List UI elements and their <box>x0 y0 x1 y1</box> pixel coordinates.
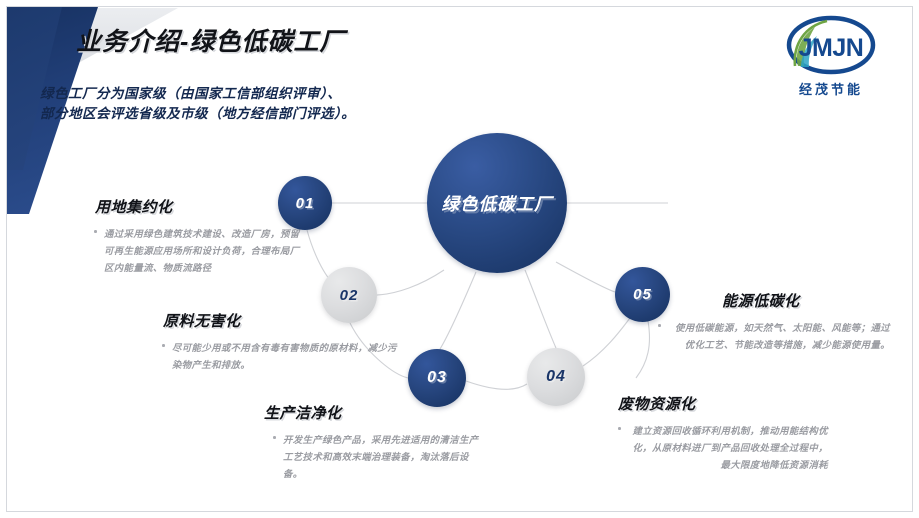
node-step-03[interactable]: 03 <box>408 349 466 407</box>
text-block-05-body-text: 使用低碳能源，如天然气、太阳能、风能等；通过优化工艺、节能改造等措施，减少能源使… <box>668 319 890 353</box>
text-block-04: 废物资源化 建立资源回收循环利用机制，推动用能结构优化，从原材料进厂到产品回收处… <box>600 393 860 473</box>
node-center-label: 绿色低碳工厂 <box>442 191 553 216</box>
node-step-03-number: 03 <box>427 369 447 387</box>
text-block-03-heading: 生产洁净化 <box>264 402 511 423</box>
text-block-02: 原料无害化 尽可能少用或不用含有毒有害物质的原材料，减少污染物产生和排放。 <box>160 310 410 373</box>
text-block-03-body: 开发生产绿色产品，采用先进适用的清洁生产工艺技术和高效末端治理装备，淘汰落后设备… <box>283 431 488 482</box>
text-block-04-body-text: 建立资源回收循环利用机制，推动用能结构优化，从原材料进厂到产品回收处理全过程中，… <box>628 422 828 473</box>
node-step-04-number: 04 <box>546 368 566 386</box>
text-block-05-body: 使用低碳能源，如天然气、太阳能、风能等；通过优化工艺、节能改造等措施，减少能源使… <box>668 319 890 353</box>
bullet-dot-icon <box>162 344 165 347</box>
bullet-dot-icon <box>658 324 661 327</box>
text-block-03-body-text: 开发生产绿色产品，采用先进适用的清洁生产工艺技术和高效末端治理装备，淘汰落后设备… <box>283 431 488 482</box>
node-step-04[interactable]: 04 <box>527 348 585 406</box>
text-block-02-body: 尽可能少用或不用含有毒有害物质的原材料，减少污染物产生和排放。 <box>172 339 397 373</box>
bullet-dot-icon <box>273 436 276 439</box>
text-block-04-heading: 废物资源化 <box>618 393 860 414</box>
text-block-04-body: 建立资源回收循环利用机制，推动用能结构优化，从原材料进厂到产品回收处理全过程中，… <box>628 422 828 473</box>
text-block-01-heading: 用地集约化 <box>95 196 317 217</box>
bullet-dot-icon <box>94 230 97 233</box>
text-block-01: 用地集约化 通过采用绿色建筑技术建设、改造厂房，预留可再生能源应用场所和设计负荷… <box>92 196 317 276</box>
bullet-dot-icon <box>618 427 621 430</box>
text-block-05-heading: 能源低碳化 <box>722 290 910 311</box>
node-step-02-number: 02 <box>340 287 359 304</box>
text-block-02-body-text: 尽可能少用或不用含有毒有害物质的原材料，减少污染物产生和排放。 <box>172 339 397 373</box>
text-block-05: 能源低碳化 使用低碳能源，如天然气、太阳能、风能等；通过优化工艺、节能改造等措施… <box>640 290 910 353</box>
text-block-01-body-text: 通过采用绿色建筑技术建设、改造厂房，预留可再生能源应用场所和设计负荷，合理布局厂… <box>104 225 302 276</box>
text-block-02-heading: 原料无害化 <box>163 310 410 331</box>
diagram-container: 绿色低碳工厂 01 02 03 04 05 用地集约化 通过采用绿色建筑技术建设… <box>0 0 919 518</box>
node-center[interactable]: 绿色低碳工厂 <box>427 133 567 273</box>
text-block-03: 生产洁净化 开发生产绿色产品，采用先进适用的清洁生产工艺技术和高效末端治理装备，… <box>261 402 511 482</box>
slide-canvas: 业务介绍-绿色低碳工厂 绿色工厂分为国家级（由国家工信部组织评审）、 部分地区会… <box>0 0 919 518</box>
text-block-01-body: 通过采用绿色建筑技术建设、改造厂房，预留可再生能源应用场所和设计负荷，合理布局厂… <box>104 225 302 276</box>
